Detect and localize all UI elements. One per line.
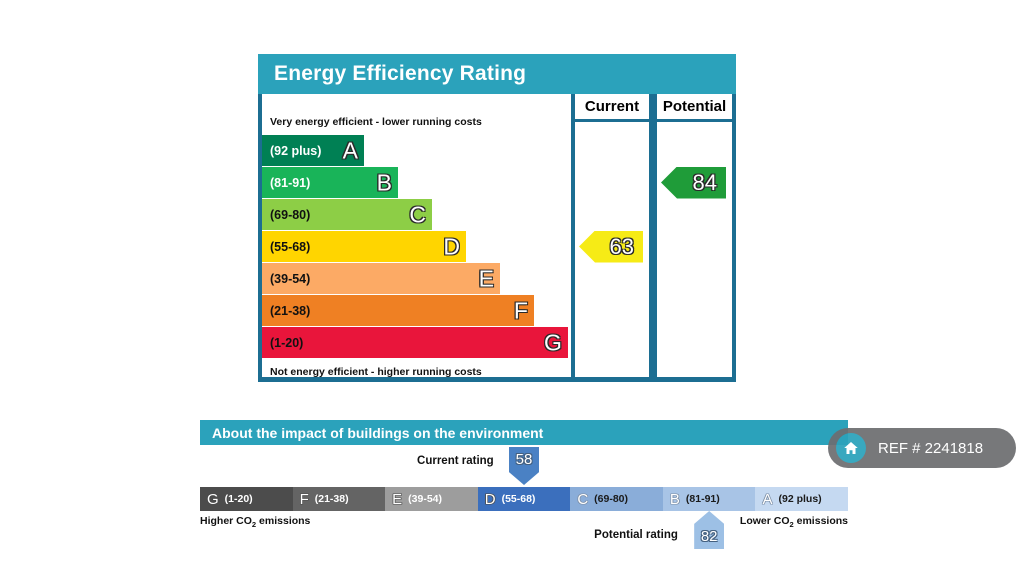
co2-band-letter: F xyxy=(300,492,309,507)
co2-band-g: G(1-20) xyxy=(200,487,293,511)
epc-band-g: (1-20)G xyxy=(262,327,568,358)
co2-band-letter: E xyxy=(392,492,402,507)
epc-band-letter: C xyxy=(409,203,426,226)
lower-emissions-label: Lower CO2 emissions xyxy=(740,515,848,529)
epc-band-range: (21-38) xyxy=(262,304,310,318)
co2-band-range: (21-38) xyxy=(315,493,349,505)
co2-band-c: C(69-80) xyxy=(570,487,663,511)
co2-band-d: D(55-68) xyxy=(478,487,571,511)
epc-title: Energy Efficiency Rating xyxy=(274,62,526,86)
co2-band-letter: B xyxy=(670,492,680,507)
epc-band-range: (55-68) xyxy=(262,240,310,254)
co2-band-e: E(39-54) xyxy=(385,487,478,511)
epc-band-f: (21-38)F xyxy=(262,295,534,326)
co2-band-letter: A xyxy=(762,492,772,507)
epc-band-letter: A xyxy=(343,139,358,162)
co2-potential-rating-badge: 82 xyxy=(694,511,724,549)
co2-band-scale: G(1-20)F(21-38)E(39-54)D(55-68)C(69-80)B… xyxy=(200,487,848,511)
epc-band-a: (92 plus)A xyxy=(262,135,364,166)
co2-current-rating-label: Current rating xyxy=(417,455,494,467)
co2-title: About the impact of buildings on the env… xyxy=(212,425,543,441)
co2-band-range: (55-68) xyxy=(502,493,536,505)
epc-bands-panel: Very energy efficient - lower running co… xyxy=(258,94,571,377)
epc-potential-value-arrow: 84 xyxy=(661,167,726,199)
epc-band-range: (81-91) xyxy=(262,176,310,190)
epc-band-range: (1-20) xyxy=(262,336,303,350)
co2-current-rating-badge: 58 xyxy=(509,447,539,485)
co2-footer: Higher CO2 emissions Lower CO2 emissions… xyxy=(200,511,848,545)
co2-band-range: (1-20) xyxy=(225,493,253,505)
epc-current-column: Current 63 xyxy=(571,94,653,377)
co2-band-b: B(81-91) xyxy=(663,487,756,511)
epc-band-letter: B xyxy=(377,171,392,194)
co2-band-range: (39-54) xyxy=(408,493,442,505)
epc-band-letter: G xyxy=(544,331,562,354)
environment-impact-section: About the impact of buildings on the env… xyxy=(200,420,848,545)
energy-efficiency-rating-chart: Energy Efficiency Rating Very energy eff… xyxy=(258,54,736,382)
epc-caption-bottom: Not energy efficient - higher running co… xyxy=(262,359,571,378)
epc-potential-area: 84 xyxy=(657,122,732,377)
epc-potential-header: Potential xyxy=(657,94,732,122)
epc-current-area: 63 xyxy=(575,122,649,377)
co2-potential-rating-label: Potential rating xyxy=(594,529,678,541)
epc-band-e: (39-54)E xyxy=(262,263,500,294)
epc-potential-value: 84 xyxy=(693,172,717,194)
epc-band-letter: F xyxy=(514,299,528,322)
epc-band-d: (55-68)D xyxy=(262,231,466,262)
epc-current-value: 63 xyxy=(610,236,634,258)
epc-band-letter: E xyxy=(479,267,494,290)
co2-title-bar: About the impact of buildings on the env… xyxy=(200,420,848,445)
epc-band-letter: D xyxy=(443,235,460,258)
reference-badge: REF # 2241818 xyxy=(828,428,1016,468)
epc-current-value-arrow: 63 xyxy=(579,231,643,263)
epc-band-range: (92 plus) xyxy=(262,144,321,158)
epc-title-bar: Energy Efficiency Rating xyxy=(258,54,736,94)
co2-band-f: F(21-38) xyxy=(293,487,386,511)
epc-rating-columns: Current 63 Potential 84 xyxy=(571,94,736,377)
higher-emissions-label: Higher CO2 emissions xyxy=(200,515,310,529)
epc-caption-top: Very energy efficient - lower running co… xyxy=(262,94,571,135)
co2-current-rating-value: 58 xyxy=(516,451,533,468)
co2-band-letter: G xyxy=(207,492,219,507)
co2-band-range: (81-91) xyxy=(686,493,720,505)
reference-text: REF # 2241818 xyxy=(878,440,983,457)
epc-band-list: (92 plus)A(81-91)B(69-80)C(55-68)D(39-54… xyxy=(262,135,571,358)
epc-band-range: (39-54) xyxy=(262,272,310,286)
co2-band-range: (69-80) xyxy=(594,493,628,505)
epc-potential-column: Potential 84 xyxy=(653,94,736,377)
co2-band-letter: C xyxy=(577,492,588,507)
co2-band-a: A(92 plus) xyxy=(755,487,848,511)
co2-band-range: (92 plus) xyxy=(778,493,821,505)
epc-body: Very energy efficient - lower running co… xyxy=(258,94,736,382)
epc-band-range: (69-80) xyxy=(262,208,310,222)
house-circle-icon xyxy=(836,433,866,463)
epc-current-header: Current xyxy=(575,94,649,122)
epc-band-b: (81-91)B xyxy=(262,167,398,198)
co2-current-pointer-row: Current rating 58 xyxy=(200,445,848,487)
co2-band-letter: D xyxy=(485,492,496,507)
epc-band-c: (69-80)C xyxy=(262,199,432,230)
co2-potential-rating-value: 82 xyxy=(701,528,718,545)
